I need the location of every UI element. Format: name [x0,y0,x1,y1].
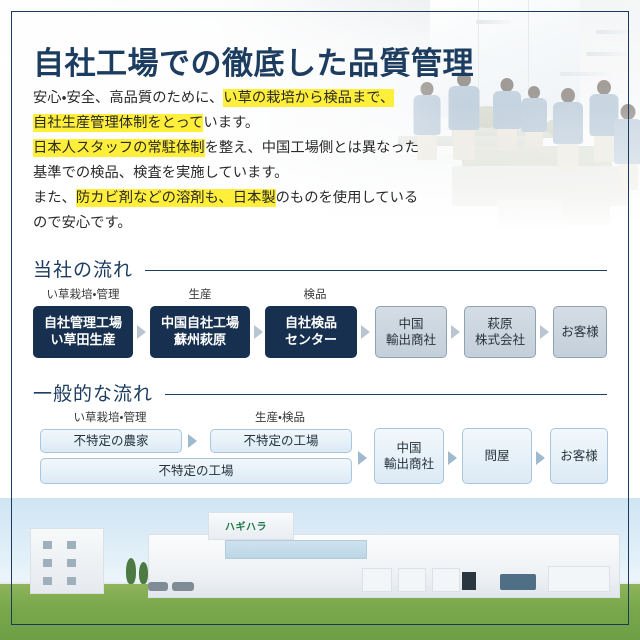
box-line: お客様 [561,324,599,340]
our-flow-stage-label-1: い草栽培・管理 [33,286,133,302]
highlighted-text: 自社生産管理体制をとって [33,114,203,132]
our-flow-box-2: 中国自社工場蘇州萩原 [150,306,250,358]
general-flow-box-exporter: 中国輸出商社 [374,428,444,484]
lead-line: 基準での検品、検査を実施しています。 [33,161,453,186]
plain-text: のものを使用している [276,190,419,206]
general-flow-heading-text: 一般的な流れ [33,379,153,406]
box-line: 不特定の工場 [243,433,318,449]
box-line: 問屋 [484,448,509,464]
flow-arrow [361,325,370,339]
general-flow-heading: 一般的な流れ [33,379,607,406]
box-line: 蘇州萩原 [161,332,239,349]
our-flow-box-1: 自社管理工場い草田生産 [33,306,133,358]
lead-paragraph: 安心・安全、高品質のために、い草の栽培から検品まで、自社生産管理体制をとっていま… [33,86,453,236]
lead-line: 日本人スタッフの常駐体制を整え、中国工場側とは異なった [33,136,453,161]
general-flow-stage-label-2: 生産・検品 [210,409,350,425]
highlighted-text: 日本人スタッフの常駐体制 [33,139,205,157]
our-flow-box-3: 自社検品センター [265,306,357,358]
flow-arrow [254,325,263,339]
box-line: 中国 [386,316,436,332]
infographic-page: ハギハラ 自社工場での徹底した品質管理 安心・安全、高品質のために、い草の栽培か… [0,0,640,640]
our-flow-stage-label-3: 検品 [265,286,365,302]
box-line: 株式会社 [475,332,525,348]
lead-line: また、防カビ剤などの溶剤も、日本製のものを使用している [33,186,453,211]
box-line: 輸出商社 [384,456,434,472]
box-line: 不特定の工場 [158,463,233,479]
our-flow-stage-label-2: 生産 [150,286,250,302]
content-layer: 自社工場での徹底した品質管理 安心・安全、高品質のために、い草の栽培から検品まで… [0,0,640,640]
heading-rule [145,270,607,272]
plain-text: います。 [203,115,259,131]
general-flow-box-factory: 不特定の工場 [210,429,352,453]
general-flow-box-wide-factory: 不特定の工場 [40,458,352,484]
box-line: 自社検品 [285,315,337,332]
general-flow-stage-label-1: い草栽培・管理 [40,409,180,425]
our-flow-heading-text: 当社の流れ [33,255,133,282]
box-line: 中国 [384,440,434,456]
general-flow-box-wholesaler: 問屋 [462,428,532,484]
box-line: 中国自社工場 [161,315,239,332]
plain-text: ので安心です。 [33,215,132,231]
highlighted-text: 日本製 [233,189,276,207]
page-title: 自社工場での徹底した品質管理 [33,47,474,81]
box-line: 自社管理工場 [44,315,122,332]
flow-arrow [358,451,367,465]
our-flow-box-5: 萩原株式会社 [464,306,536,358]
lead-line: 安心・安全、高品質のために、い草の栽培から検品まで、 [33,86,453,111]
flow-arrow [188,434,197,448]
general-flow-box-customer: お客様 [550,428,608,484]
flow-arrow [536,451,545,465]
our-flow-box-6: お客様 [553,306,607,358]
plain-text: また、 [33,190,76,206]
box-line: 輸出商社 [386,332,436,348]
plain-text: 基準での検品、検査を実施しています。 [33,165,288,181]
box-line: 不特定の農家 [73,433,148,449]
plain-text: を整え、中国工場側とは異なった [205,140,419,156]
box-line: 萩原 [475,316,525,332]
lead-line: 自社生産管理体制をとっています。 [33,111,453,136]
flow-arrow [448,451,457,465]
flow-arrow [540,325,549,339]
our-flow-box-4: 中国輸出商社 [375,306,447,358]
general-flow-box-farm: 不特定の農家 [40,429,182,453]
box-line: センター [285,332,337,349]
highlighted-text: 防カビ剤などの溶剤も、 [76,189,233,207]
heading-rule [165,394,607,396]
lead-line: ので安心です。 [33,211,453,236]
flow-arrow [137,325,146,339]
flow-arrow [451,325,460,339]
plain-text: 安心・安全、高品質のために、 [33,90,223,106]
box-line: お客様 [560,448,598,464]
highlighted-text: い草の栽培から検品まで、 [223,89,394,107]
our-flow-heading: 当社の流れ [33,255,607,282]
box-line: い草田生産 [44,332,122,349]
